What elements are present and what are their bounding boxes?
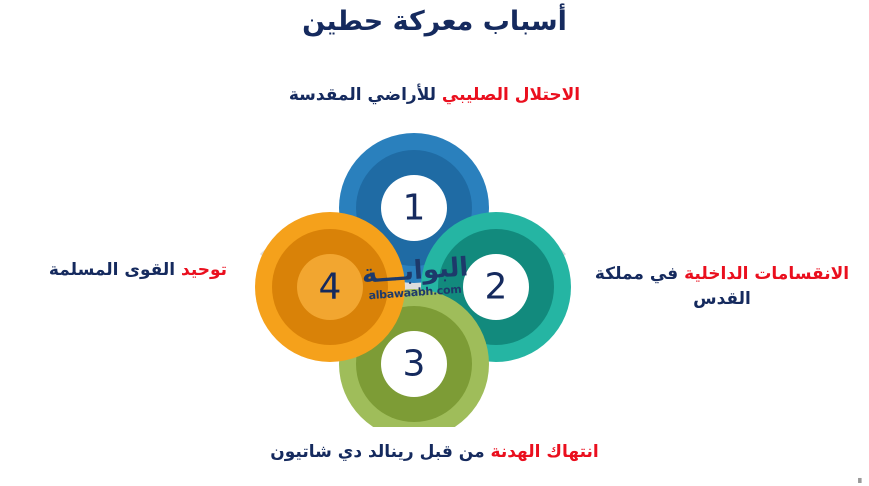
node-1-number: 1 [403,188,426,229]
node-2-number: 2 [485,267,508,308]
node-4-number: 4 [319,267,342,308]
callout-left-highlight: توحيد [181,260,227,280]
petal-node-4[interactable]: 4 [255,212,405,362]
corner-artifact-mark: ▖ [856,475,865,483]
callout-right-highlight: الانقسامات الداخلية [684,264,849,284]
callout-label-bottom: انتهاك الهدنة من قبل رينالد دي شاتيون [0,440,869,465]
callout-bottom-highlight: انتهاك الهدنة [491,442,599,462]
callout-label-right: الانقسامات الداخلية في مملكة القدس [586,262,858,311]
callout-top-highlight: الاحتلال الصليبي [442,85,580,105]
callout-label-left: توحيد القوى المسلمة [14,258,262,283]
callout-left-rest: القوى المسلمة [49,260,181,280]
four-petal-diagram: 1 2 3 4 [248,132,578,427]
callout-bottom-rest: من قبل رينالد دي شاتيون [270,442,490,462]
callout-top-rest: للأراضي المقدسة [289,85,442,105]
callout-label-top: الاحتلال الصليبي للأراضي المقدسة [0,83,869,108]
page-title: أسباب معركة حطين [0,6,869,37]
node-3-number: 3 [403,344,426,385]
